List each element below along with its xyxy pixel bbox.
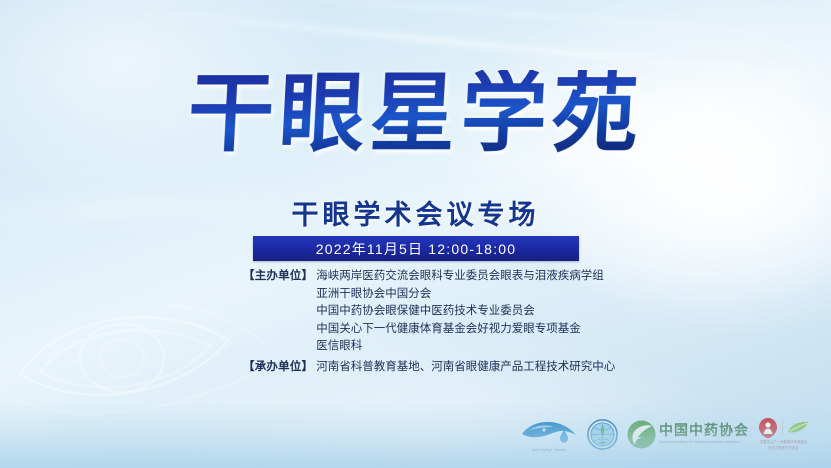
logo-caption-line1: 中国关心下一代健康体育基金会 (760, 440, 807, 445)
host-item: 中国关心下一代健康体育基金会好视力爱眼专项基金 (316, 321, 663, 339)
co-host-label: 【承办单位】 (243, 359, 313, 377)
title-block: 干眼星学苑 (0, 70, 831, 158)
globe-emblem-icon (587, 419, 618, 450)
host-item: 中国中药协会眼保健中医药技术专业委员会 (316, 303, 663, 321)
green-leaf-hand-icon (627, 420, 656, 449)
logo-caption: Asia DryEye Society (532, 448, 567, 452)
asia-dry-eye-society-logo: Asia DryEye Society (520, 417, 578, 452)
logo-marks (758, 417, 809, 439)
host-item: 医信眼科 (316, 338, 663, 356)
main-title: 干眼星学苑 (186, 70, 646, 158)
logo-divider (782, 421, 783, 435)
co-host-row: 【承办单位】 河南省科普教育基地、河南省眼健康产品工程技术研究中心 (243, 359, 663, 377)
organizer-info: 【主办单位】 海峡两岸医药交流会眼科专业委员会眼表与泪液疾病学组 亚洲干眼协会中… (243, 268, 663, 377)
logo-strip: Asia DryEye Society 中国中药协会 China Associa… (520, 409, 820, 459)
light-streak-decoration (241, 0, 831, 38)
logo-caption: China Association of Traditional Chinese… (659, 440, 749, 444)
co-host-item: 河南省科普教育基地、河南省眼健康产品工程技术研究中心 (316, 359, 663, 377)
good-vision-eye-care-fund-logo: 中国关心下一代健康体育基金会 好视力爱眼专项基金 (758, 417, 809, 450)
host-item: 亚洲干眼协会中国分会 (316, 286, 663, 304)
circular-emblem-logo (587, 419, 618, 450)
poster-canvas: 干眼星学苑 干眼学术会议专场 2022年11月5日 12:00-18:00 【主… (0, 0, 831, 468)
logo-text-block: 中国中药协会 China Association of Traditional … (659, 424, 749, 444)
subtitle: 干眼学术会议专场 (0, 193, 831, 232)
host-label: 【主办单位】 (243, 268, 313, 286)
host-row: 【主办单位】 海峡两岸医药交流会眼科专业委员会眼表与泪液疾病学组 亚洲干眼协会中… (243, 268, 663, 356)
date-time-text: 2022年11月5日 12:00-18:00 (316, 239, 516, 259)
green-leaf-icon (787, 421, 809, 435)
dry-eye-wave-icon (520, 417, 578, 447)
china-association-chinese-medicine-logo: 中国中药协会 China Association of Traditional … (627, 420, 749, 449)
host-list: 海峡两岸医药交流会眼科专业委员会眼表与泪液疾病学组 亚洲干眼协会中国分会 中国中… (313, 268, 663, 356)
logo-caption-line2: 好视力爱眼专项基金 (768, 446, 799, 451)
red-child-emblem-icon (758, 417, 778, 439)
date-time-banner: 2022年11月5日 12:00-18:00 (253, 236, 579, 261)
host-item: 海峡两岸医药交流会眼科专业委员会眼表与泪液疾病学组 (316, 268, 663, 286)
logo-title-cn: 中国中药协会 (659, 424, 749, 439)
co-host-list: 河南省科普教育基地、河南省眼健康产品工程技术研究中心 (313, 359, 663, 377)
